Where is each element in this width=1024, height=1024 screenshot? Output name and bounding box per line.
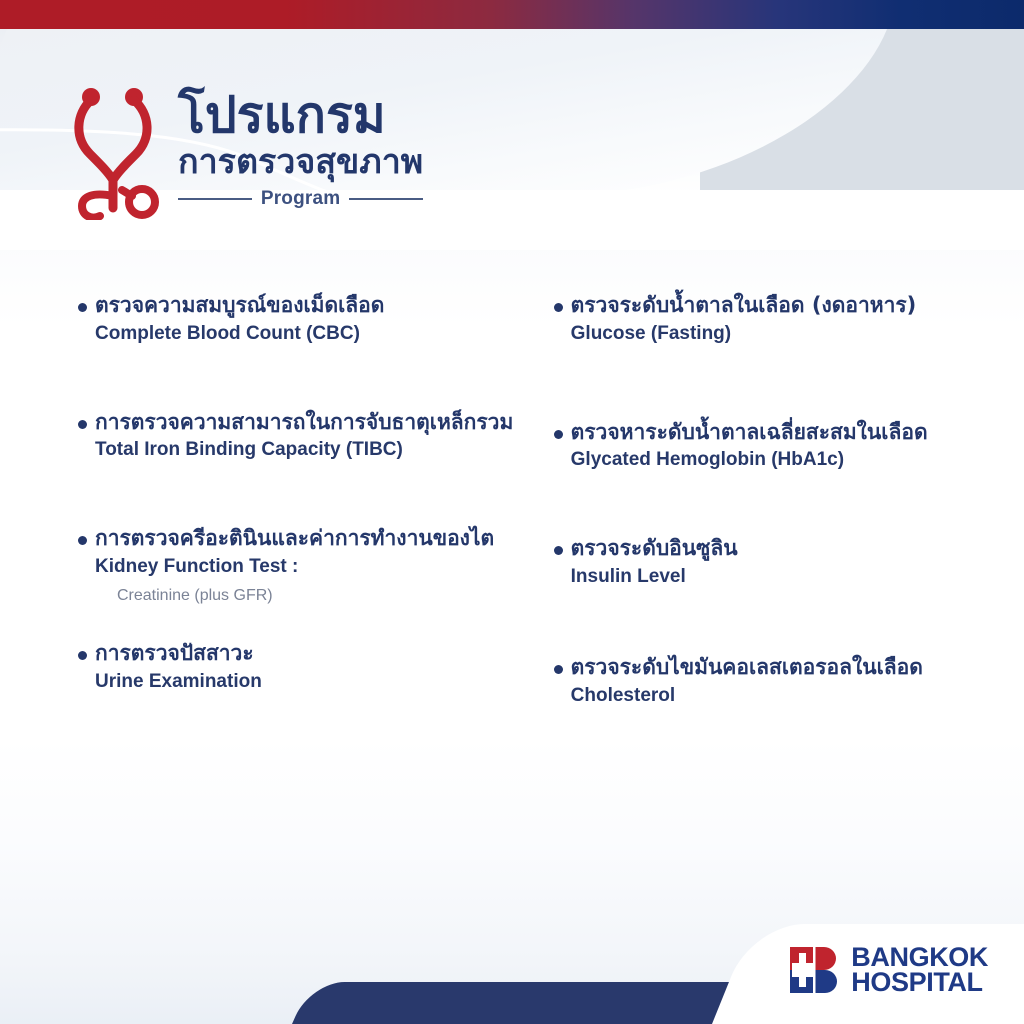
list-item: ตรวจหาระดับน้ำตาลเฉลี่ยสะสมในเลือด Glyca…	[546, 419, 970, 474]
item-english-label: Urine Examination	[95, 670, 514, 695]
left-column: ตรวจความสมบูรณ์ของเม็ดเลือด Complete Blo…	[70, 292, 514, 708]
bangkok-hospital-mark-icon	[789, 944, 841, 996]
list-item: การตรวจความสามารถในการจับธาตุเหล็กรวม To…	[70, 409, 514, 464]
list-item: ตรวจความสมบูรณ์ของเม็ดเลือด Complete Blo…	[70, 292, 514, 347]
item-thai-label: ตรวจความสมบูรณ์ของเม็ดเลือด	[95, 292, 514, 319]
item-english-label: Total Iron Binding Capacity (TIBC)	[95, 438, 514, 463]
bullet-icon	[554, 303, 563, 312]
title-thai-primary: โปรแกรม	[178, 90, 386, 141]
item-thai-label: ตรวจระดับอินซูลิน	[571, 535, 970, 562]
bullet-icon	[78, 420, 87, 429]
list-item: การตรวจปัสสาวะ Urine Examination	[70, 640, 514, 695]
right-column: ตรวจระดับน้ำตาลในเลือด (งดอาหาร) Glucose…	[546, 292, 970, 708]
program-rule-left	[178, 198, 252, 200]
title-thai-secondary: การตรวจสุขภาพ	[178, 143, 423, 181]
checkup-items-columns: ตรวจความสมบูรณ์ของเม็ดเลือด Complete Blo…	[70, 292, 970, 708]
title-block: โปรแกรม การตรวจสุขภาพ Program	[178, 84, 423, 210]
stethoscope-icon	[70, 84, 166, 220]
brand-line-2: HOSPITAL	[851, 970, 988, 995]
item-thai-label: ตรวจระดับน้ำตาลในเลือด (งดอาหาร)	[571, 292, 970, 319]
bangkok-hospital-logo: BANGKOK HOSPITAL	[789, 944, 988, 996]
bangkok-hospital-wordmark: BANGKOK HOSPITAL	[851, 945, 988, 995]
item-english-label: Insulin Level	[571, 565, 970, 590]
bullet-icon	[78, 303, 87, 312]
program-label: Program	[261, 188, 341, 210]
list-item: ตรวจระดับน้ำตาลในเลือด (งดอาหาร) Glucose…	[546, 292, 970, 347]
bullet-icon	[554, 665, 563, 674]
item-english-label: Glucose (Fasting)	[571, 322, 970, 347]
item-thai-label: การตรวจปัสสาวะ	[95, 640, 514, 667]
item-english-label: Cholesterol	[571, 684, 970, 709]
bullet-icon	[554, 546, 563, 555]
bullet-icon	[78, 651, 87, 660]
list-item: การตรวจครีอะตินินและค่าการทำงานของไต Kid…	[70, 525, 514, 606]
item-english-label: Glycated Hemoglobin (HbA1c)	[571, 448, 970, 473]
item-english-label: Kidney Function Test :	[95, 555, 514, 580]
item-english-label: Complete Blood Count (CBC)	[95, 322, 514, 347]
item-thai-label: การตรวจครีอะตินินและค่าการทำงานของไต	[95, 525, 514, 552]
list-item: ตรวจระดับอินซูลิน Insulin Level	[546, 535, 970, 590]
header-lockup: โปรแกรม การตรวจสุขภาพ Program	[70, 84, 423, 220]
program-divider-row: Program	[178, 188, 423, 210]
bullet-icon	[78, 536, 87, 545]
item-thai-label: การตรวจความสามารถในการจับธาตุเหล็กรวม	[95, 409, 514, 436]
bullet-icon	[554, 430, 563, 439]
item-thai-label: ตรวจระดับไขมันคอเลสเตอรอลในเลือด	[571, 654, 970, 681]
program-rule-right	[349, 198, 423, 200]
item-sub-label: Creatinine (plus GFR)	[117, 586, 514, 607]
list-item: ตรวจระดับไขมันคอเลสเตอรอลในเลือด Cholest…	[546, 654, 970, 709]
top-gradient-bar	[0, 0, 1024, 29]
item-thai-label: ตรวจหาระดับน้ำตาลเฉลี่ยสะสมในเลือด	[571, 419, 970, 446]
health-checkup-poster: โปรแกรม การตรวจสุขภาพ Program ตรวจความสม…	[0, 0, 1024, 1024]
